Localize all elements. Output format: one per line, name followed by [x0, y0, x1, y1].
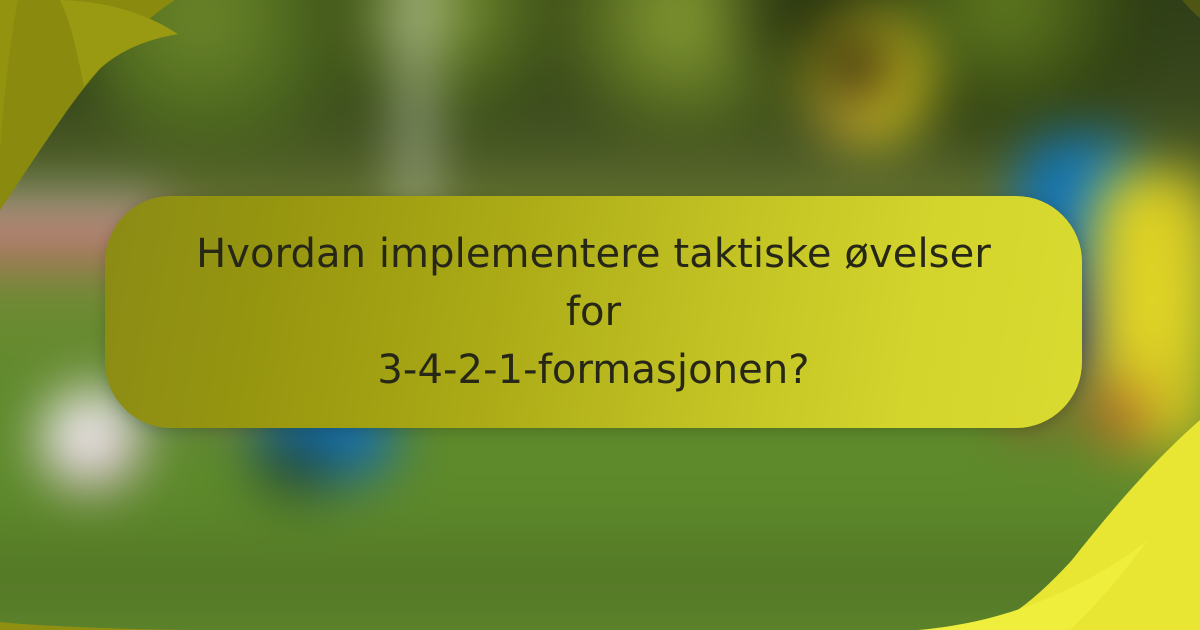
question-card: Hvordan implementere taktiske øvelser fo…	[105, 196, 1082, 428]
pitch-foreground-shade	[0, 500, 1180, 630]
share-card-canvas: Hvordan implementere taktiske øvelser fo…	[0, 0, 1200, 630]
player-red-detail-1	[1075, 370, 1155, 460]
player-shorts-dark	[235, 420, 355, 510]
player-arm-skin	[820, 90, 866, 150]
question-text: Hvordan implementere taktiske øvelser fo…	[164, 225, 1024, 399]
